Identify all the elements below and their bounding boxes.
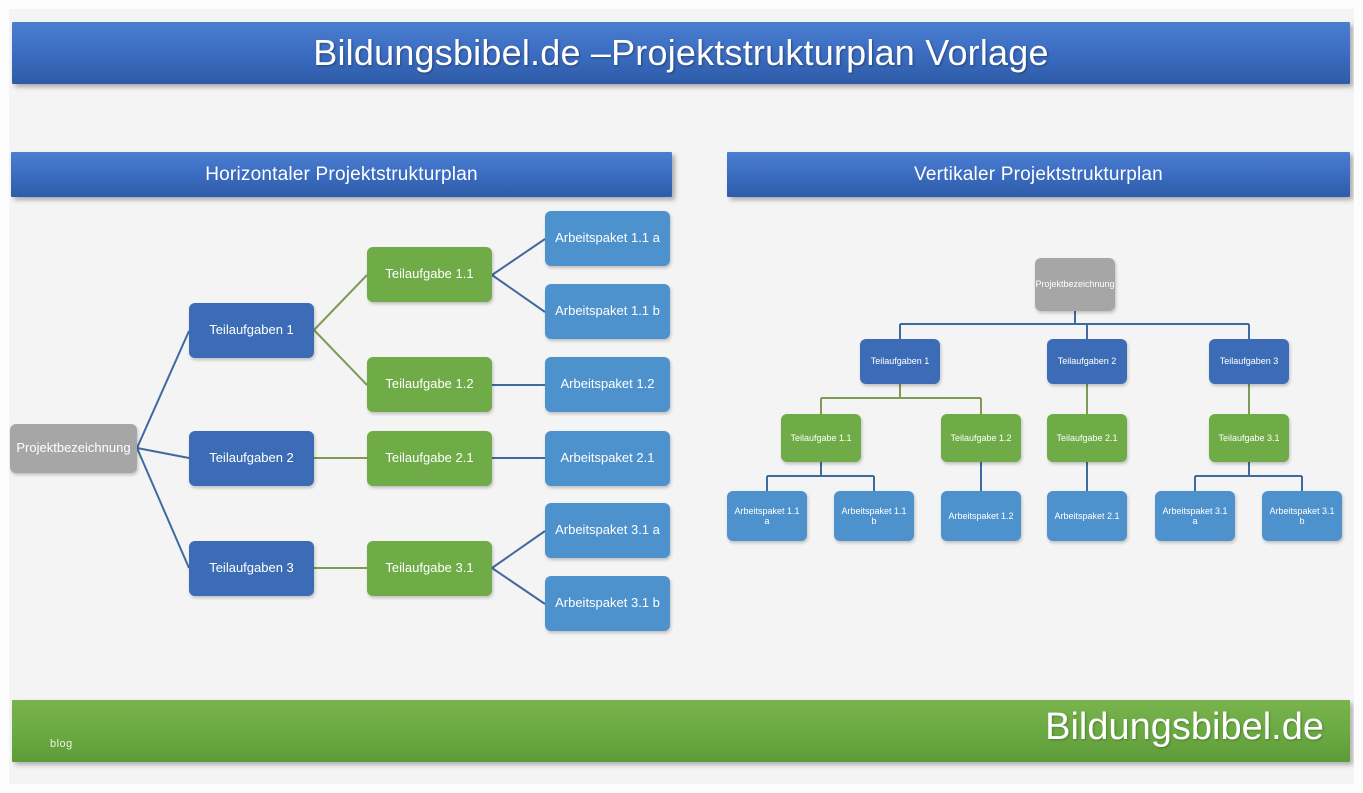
v-node-teilaufgabe-1-2[interactable]: Teilaufgabe 1.2 [941,414,1021,462]
v-node-arbeitspaket-2-1[interactable]: Arbeitspaket 2.1 [1047,491,1127,541]
horizontal-project-structure-diagram: Projektbezeichnung Teilaufgaben 1 Teilau… [0,0,700,700]
h-node-arbeitspaket-1-1-a[interactable]: Arbeitspaket 1.1 a [545,211,670,266]
h-node-root[interactable]: Projektbezeichnung [10,424,137,473]
footer-brand-label: Bildungsbibel.de [1045,706,1324,749]
v-node-arbeitspaket-1-1-a[interactable]: Arbeitspaket 1.1 a [727,491,807,541]
h-node-teilaufgaben-3[interactable]: Teilaufgaben 3 [189,541,314,596]
v-node-root[interactable]: Projektbezeichnung [1035,258,1115,311]
v-node-teilaufgabe-1-1[interactable]: Teilaufgabe 1.1 [781,414,861,462]
h-node-arbeitspaket-1-2[interactable]: Arbeitspaket 1.2 [545,357,670,412]
v-node-teilaufgabe-3-1[interactable]: Teilaufgabe 3.1 [1209,414,1289,462]
v-node-teilaufgabe-2-1[interactable]: Teilaufgabe 2.1 [1047,414,1127,462]
v-node-arbeitspaket-3-1-a[interactable]: Arbeitspaket 3.1 a [1155,491,1235,541]
footer-blog-label[interactable]: blog [50,738,73,750]
h-node-teilaufgabe-2-1[interactable]: Teilaufgabe 2.1 [367,431,492,486]
vertical-project-structure-diagram: Projektbezeichnung Teilaufgaben 1 Teilau… [700,0,1363,700]
v-node-arbeitspaket-1-2[interactable]: Arbeitspaket 1.2 [941,491,1021,541]
h-node-teilaufgaben-1[interactable]: Teilaufgaben 1 [189,303,314,358]
h-node-arbeitspaket-2-1[interactable]: Arbeitspaket 2.1 [545,431,670,486]
h-node-teilaufgabe-1-1[interactable]: Teilaufgabe 1.1 [367,247,492,302]
v-node-teilaufgaben-3[interactable]: Teilaufgaben 3 [1209,339,1289,384]
v-node-arbeitspaket-1-1-b[interactable]: Arbeitspaket 1.1 b [834,491,914,541]
footer-bar: blog Bildungsbibel.de [12,700,1350,762]
h-node-teilaufgaben-2[interactable]: Teilaufgaben 2 [189,431,314,486]
h-node-teilaufgabe-1-2[interactable]: Teilaufgabe 1.2 [367,357,492,412]
v-node-teilaufgaben-1[interactable]: Teilaufgaben 1 [860,339,940,384]
v-node-arbeitspaket-3-1-b[interactable]: Arbeitspaket 3.1 b [1262,491,1342,541]
v-node-teilaufgaben-2[interactable]: Teilaufgaben 2 [1047,339,1127,384]
h-node-arbeitspaket-1-1-b[interactable]: Arbeitspaket 1.1 b [545,284,670,339]
h-node-teilaufgabe-3-1[interactable]: Teilaufgabe 3.1 [367,541,492,596]
slide-canvas: Bildungsbibel.de –Projektstrukturplan Vo… [0,0,1363,793]
h-node-arbeitspaket-3-1-b[interactable]: Arbeitspaket 3.1 b [545,576,670,631]
h-node-arbeitspaket-3-1-a[interactable]: Arbeitspaket 3.1 a [545,503,670,558]
